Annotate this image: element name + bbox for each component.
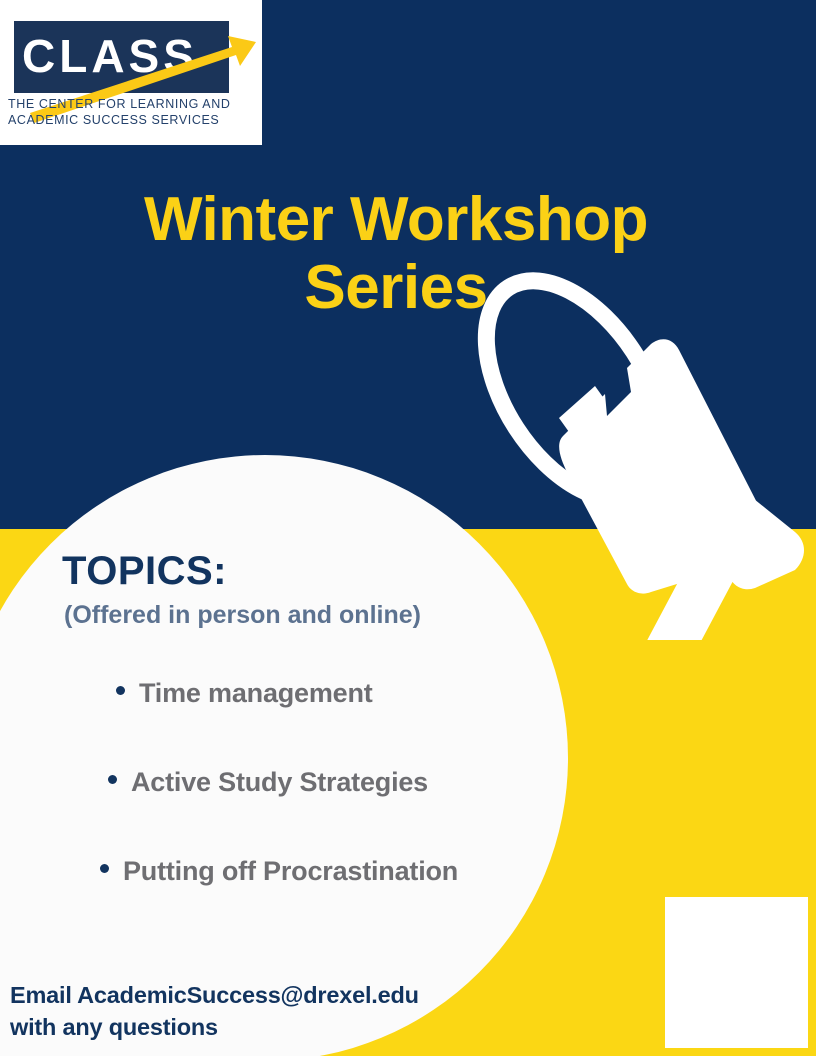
list-item: Putting off Procrastination xyxy=(100,856,540,945)
logo-tagline-line-1: THE CENTER FOR LEARNING AND xyxy=(8,96,256,112)
bullet-dot-icon xyxy=(100,864,109,873)
topic-label: Time management xyxy=(139,678,373,709)
contact-text: Email AcademicSuccess@drexel.edu with an… xyxy=(10,979,510,1043)
list-item: Time management xyxy=(100,678,540,767)
topics-heading: TOPICS: xyxy=(62,549,227,594)
logo-tagline-line-2: ACADEMIC SUCCESS SERVICES xyxy=(8,112,256,128)
poster-title: Winter Workshop Series xyxy=(108,186,684,322)
list-item: Active Study Strategies xyxy=(100,767,540,856)
logo-wordmark: CLASS xyxy=(22,28,222,84)
topic-label: Active Study Strategies xyxy=(131,767,428,798)
bullet-dot-icon xyxy=(108,775,117,784)
contact-line-1: Email AcademicSuccess@drexel.edu xyxy=(10,979,510,1011)
topics-subheading: (Offered in person and online) xyxy=(64,601,421,630)
bullet-dot-icon xyxy=(116,686,125,695)
topic-label: Putting off Procrastination xyxy=(123,856,458,887)
qr-code-panel xyxy=(665,897,808,1048)
poster-title-line-2: Series xyxy=(108,254,684,322)
poster-canvas: CLASS THE CENTER FOR LEARNING AND ACADEM… xyxy=(0,0,816,1056)
logo-tagline: THE CENTER FOR LEARNING AND ACADEMIC SUC… xyxy=(8,96,256,128)
poster-title-line-1: Winter Workshop xyxy=(108,186,684,254)
contact-line-2: with any questions xyxy=(10,1011,510,1043)
topics-list: Time management Active Study Strategies … xyxy=(100,678,540,945)
class-logo: CLASS THE CENTER FOR LEARNING AND ACADEM… xyxy=(0,0,262,145)
